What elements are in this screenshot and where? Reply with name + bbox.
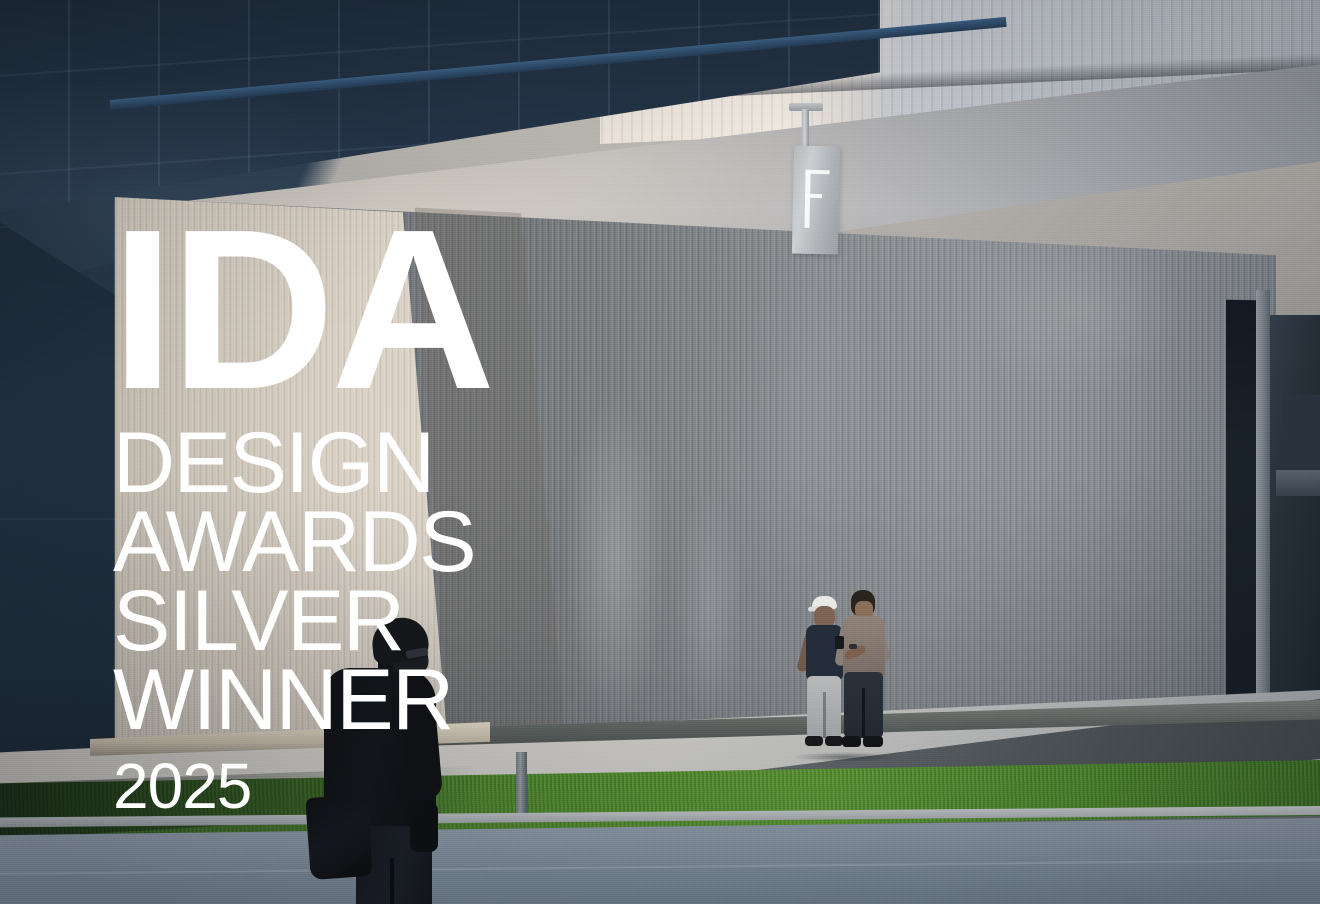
walker-leg-split bbox=[390, 858, 394, 904]
award-line-silver: SILVER bbox=[113, 582, 475, 661]
right-recess-secondary bbox=[1262, 315, 1320, 735]
worker-b-leg-split bbox=[862, 688, 865, 738]
worker-b-left-shoe bbox=[842, 736, 861, 747]
worker-with-phone bbox=[838, 590, 890, 758]
worker-b-right-shoe bbox=[863, 736, 883, 747]
f-letter-stem bbox=[804, 170, 810, 228]
award-title-block: DESIGN AWARDS SILVER WINNER bbox=[113, 424, 475, 740]
award-line-awards: AWARDS bbox=[113, 503, 475, 582]
hanging-f-sign bbox=[792, 146, 840, 255]
shoulder-bag bbox=[305, 794, 373, 880]
right-equipment-box bbox=[1276, 470, 1320, 496]
bollard-post bbox=[516, 752, 527, 814]
f-letter-mid-bar bbox=[805, 194, 822, 198]
worker-a-left-shoe bbox=[805, 736, 823, 746]
ida-logo: IDA bbox=[111, 196, 492, 424]
worker-a-leg-split bbox=[823, 692, 826, 738]
award-hero-image: IDA DESIGN AWARDS SILVER WINNER 2025 bbox=[0, 0, 1320, 904]
award-year: 2025 bbox=[113, 754, 251, 818]
award-line-design: DESIGN bbox=[113, 424, 475, 503]
smartphone bbox=[835, 636, 844, 649]
f-letter-top-bar bbox=[806, 170, 830, 175]
right-recess-dark bbox=[1226, 300, 1260, 721]
wristwatch bbox=[849, 644, 857, 649]
award-line-winner: WINNER bbox=[113, 661, 475, 740]
sign-support-rod bbox=[802, 109, 809, 149]
right-structural-pillar bbox=[1256, 290, 1270, 730]
